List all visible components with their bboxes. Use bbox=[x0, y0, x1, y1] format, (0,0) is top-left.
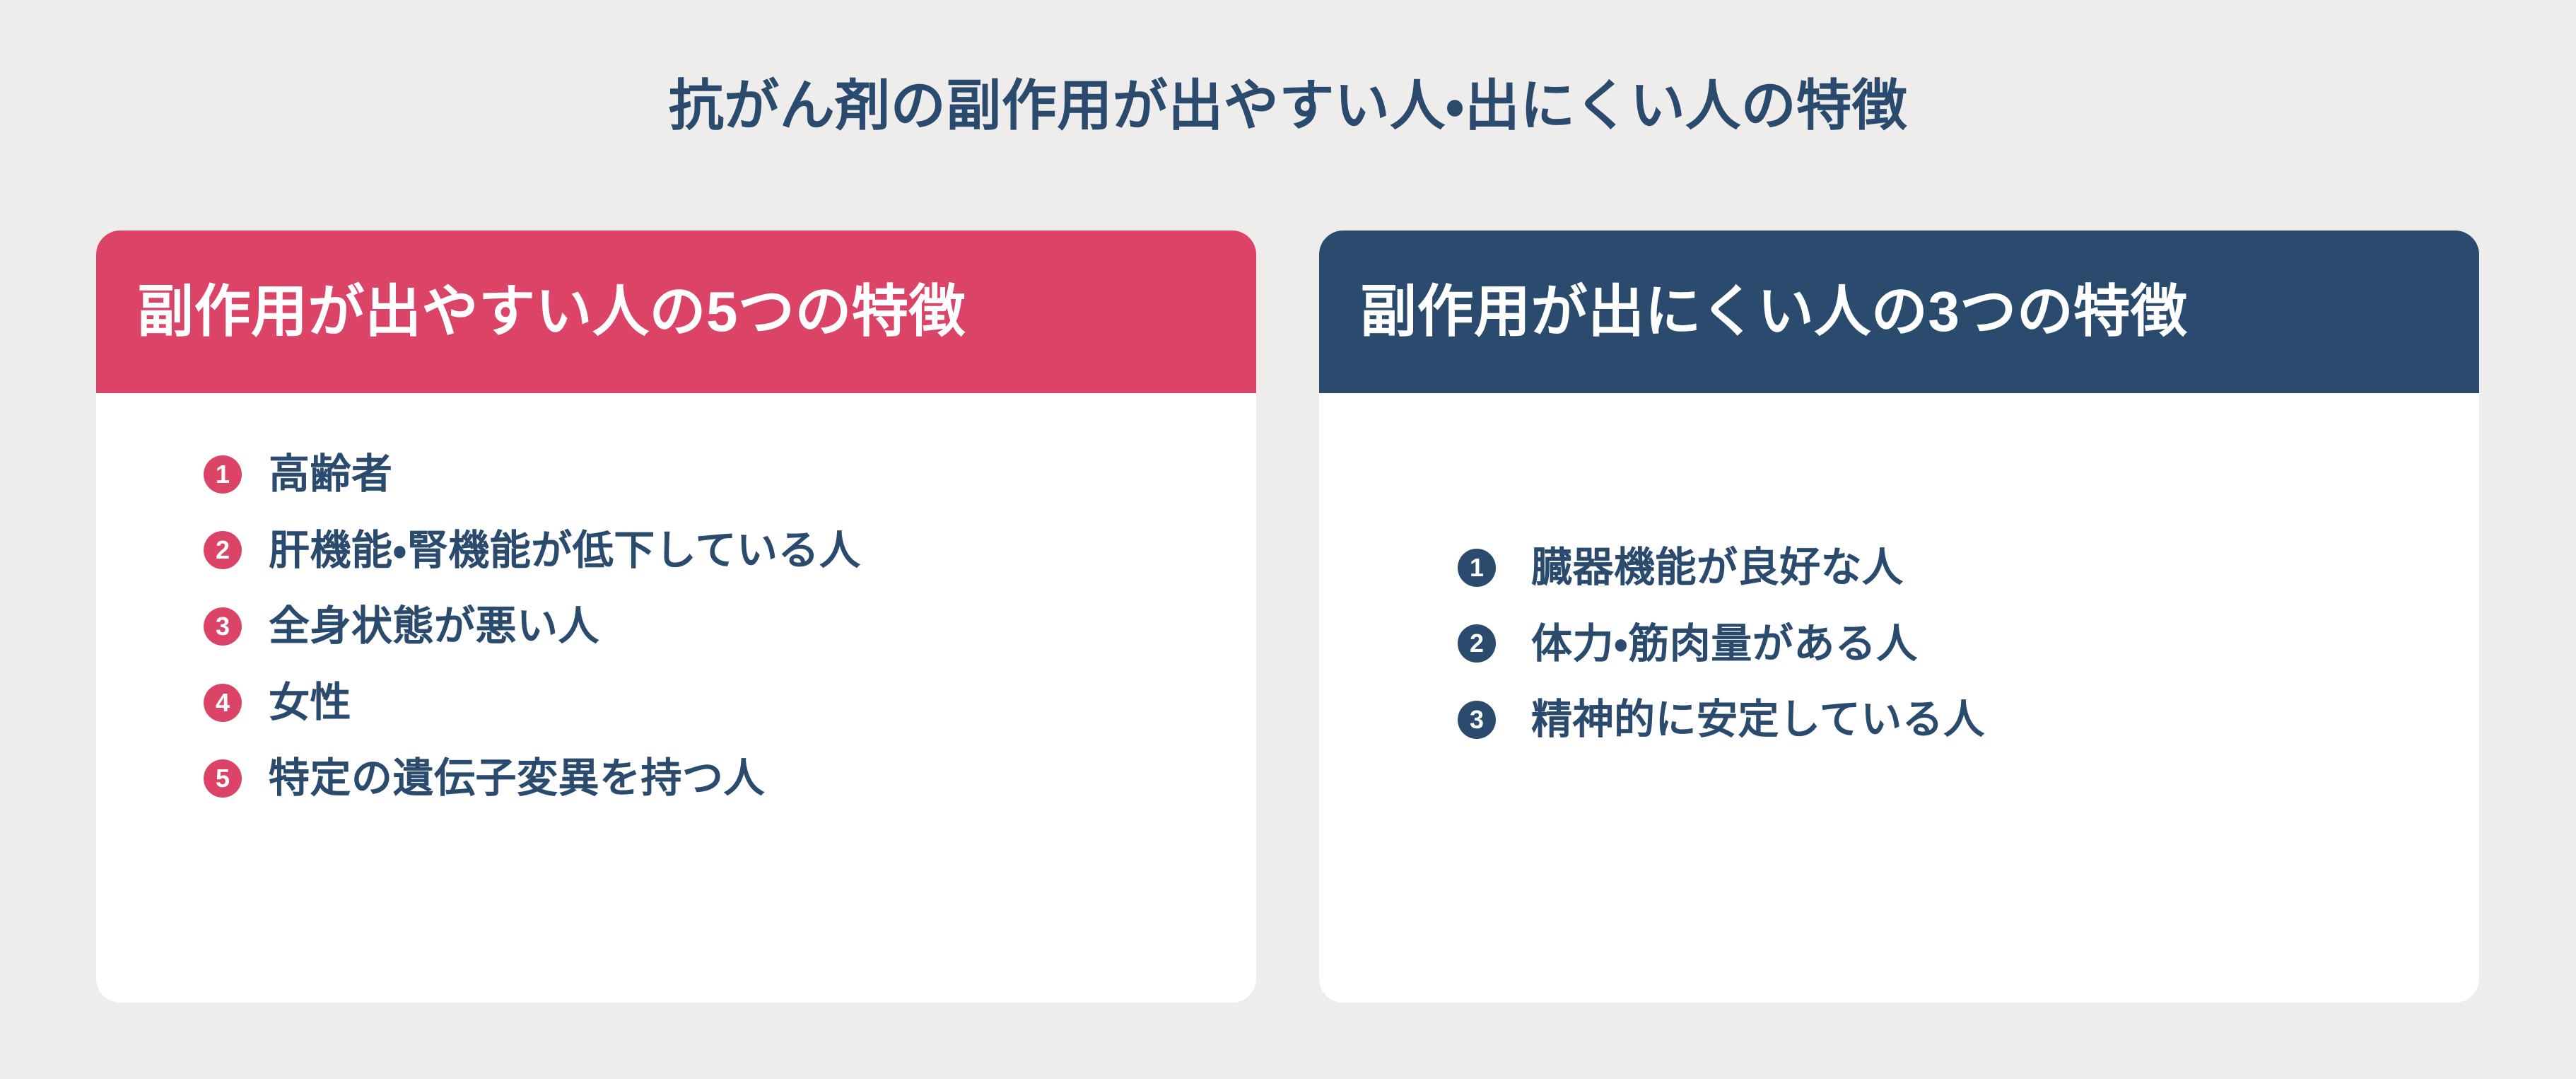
feature-list-hard: 1 臓器機能が良好な人 2 体力・筋肉量がある人 3 精神的に安定している人 bbox=[1319, 543, 2479, 745]
card-header-easy: 副作用が出やすい人の5つの特徴 bbox=[96, 231, 1256, 393]
card-easy-side-effects: 副作用が出やすい人の5つの特徴 1 高齢者 2 肝機能・腎機能が低下している人 … bbox=[96, 231, 1256, 1003]
list-item: 3 全身状態が悪い人 bbox=[204, 602, 1256, 651]
number-badge-icon: 5 bbox=[204, 759, 242, 798]
page-title: 抗がん剤の副作用が出やすい人・出にくい人の特徴 bbox=[0, 75, 2576, 136]
number-badge-icon: 4 bbox=[204, 684, 242, 722]
list-item-label: 体力・筋肉量がある人 bbox=[1531, 619, 1918, 669]
number-badge-icon: 2 bbox=[204, 531, 242, 569]
infographic-canvas: 抗がん剤の副作用が出やすい人・出にくい人の特徴 副作用が出やすい人の5つの特徴 … bbox=[0, 0, 2576, 1079]
card-body-hard: 1 臓器機能が良好な人 2 体力・筋肉量がある人 3 精神的に安定している人 bbox=[1319, 393, 2479, 1003]
list-item-label: 精神的に安定している人 bbox=[1531, 695, 1985, 745]
list-item: 1 高齢者 bbox=[204, 450, 1256, 499]
card-header-title-hard: 副作用が出にくい人の3つの特徴 bbox=[1360, 281, 2187, 343]
list-item: 4 女性 bbox=[204, 678, 1256, 728]
list-item: 5 特定の遺伝子変異を持つ人 bbox=[204, 754, 1256, 803]
card-hard-side-effects: 副作用が出にくい人の3つの特徴 1 臓器機能が良好な人 2 体力・筋肉量がある人… bbox=[1319, 231, 2479, 1003]
list-item-label: 女性 bbox=[269, 678, 351, 728]
card-body-easy: 1 高齢者 2 肝機能・腎機能が低下している人 3 全身状態が悪い人 4 女性 … bbox=[96, 393, 1256, 1003]
list-item-label: 特定の遺伝子変異を持つ人 bbox=[269, 754, 765, 803]
list-item: 2 肝機能・腎機能が低下している人 bbox=[204, 526, 1256, 576]
number-badge-icon: 3 bbox=[1458, 701, 1496, 739]
card-header-hard: 副作用が出にくい人の3つの特徴 bbox=[1319, 231, 2479, 393]
list-item-label: 臓器機能が良好な人 bbox=[1531, 543, 1904, 593]
number-badge-icon: 3 bbox=[204, 607, 242, 646]
list-item: 2 体力・筋肉量がある人 bbox=[1458, 619, 2479, 669]
list-item: 3 精神的に安定している人 bbox=[1458, 695, 2479, 745]
list-item-label: 肝機能・腎機能が低下している人 bbox=[269, 526, 860, 576]
list-item: 1 臓器機能が良好な人 bbox=[1458, 543, 2479, 593]
number-badge-icon: 2 bbox=[1458, 624, 1496, 663]
feature-list-easy: 1 高齢者 2 肝機能・腎機能が低下している人 3 全身状態が悪い人 4 女性 … bbox=[96, 450, 1256, 803]
card-header-title-easy: 副作用が出やすい人の5つの特徴 bbox=[137, 281, 966, 343]
number-badge-icon: 1 bbox=[204, 455, 242, 494]
number-badge-icon: 1 bbox=[1458, 549, 1496, 587]
list-item-label: 高齢者 bbox=[269, 450, 393, 499]
list-item-label: 全身状態が悪い人 bbox=[269, 602, 599, 651]
